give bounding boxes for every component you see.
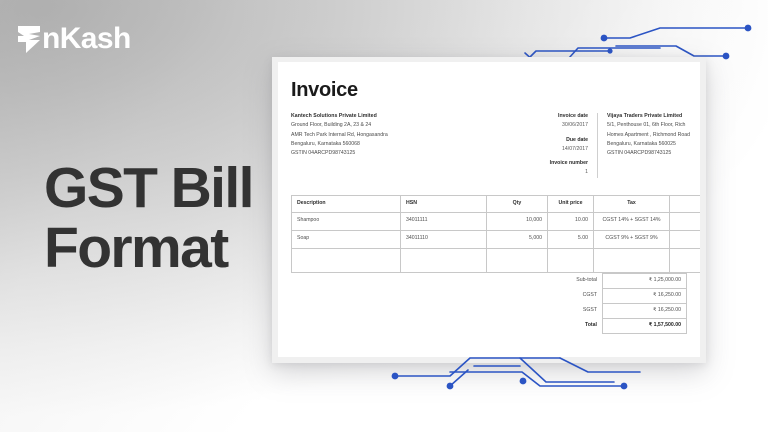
buyer-block: Vijaya Traders Private Limited 5/1, Pent… <box>598 112 690 158</box>
totals-row-cgst: CGST ₹ 16,250.00 <box>532 288 687 303</box>
invoice-title: Invoice <box>291 80 687 100</box>
grand-total-value: ₹ 1,57,500.00 <box>603 318 687 333</box>
seller-address-line-2: AMR Tech Park Internal Rd, Hongasandra <box>291 131 496 140</box>
table-empty-row <box>292 248 701 272</box>
seller-address-line-1: Ground Floor, Building 2A, 23 & 24 <box>291 121 496 130</box>
column-header-unit-price: Unit price <box>548 195 594 212</box>
table-row: Soap 34011110 5,000 5.00 CGST 9% + SGST … <box>292 230 701 248</box>
cell-description: Soap <box>292 230 401 248</box>
buyer-address-line-3: Bengaluru, Karnataka 560025 <box>607 140 690 149</box>
cell-hsn: 34011111 <box>401 212 487 230</box>
column-header-tax: Tax <box>594 195 670 212</box>
totals-row-sgst: SGST ₹ 16,250.00 <box>532 303 687 318</box>
invoice-date-label: Invoice date <box>496 112 588 121</box>
column-header-amount: Amount <box>670 195 701 212</box>
totals-section: Sub-total ₹ 1,25,000.00 CGST ₹ 16,250.00… <box>291 273 687 334</box>
cell-description: Shampoo <box>292 212 401 230</box>
buyer-gstin: GSTIN 04ARCPD98743125 <box>607 149 690 158</box>
page-title: GST Bill Format <box>44 158 253 279</box>
buyer-address-line-1: 5/1, Penthouse 01, 6th Floor, Rich <box>607 121 690 130</box>
poster-canvas: Invoice Kantech Solutions Private Limite… <box>0 0 768 432</box>
totals-table: Sub-total ₹ 1,25,000.00 CGST ₹ 16,250.00… <box>532 273 687 334</box>
grand-total-label: Total <box>532 318 603 333</box>
sgst-label: SGST <box>532 303 603 318</box>
due-date-value: 14/07/2017 <box>496 145 588 154</box>
enkash-logo-text: nKash <box>42 24 131 54</box>
cell-tax: CGST 9% + SGST 9% <box>594 230 670 248</box>
cell-tax: CGST 14% + SGST 14% <box>594 212 670 230</box>
line-items-table: Description HSN Qty Unit price Tax Amoun… <box>291 195 700 273</box>
cell-unit-price: 5.00 <box>548 230 594 248</box>
due-date-label: Due date <box>496 136 588 145</box>
cgst-label: CGST <box>532 288 603 303</box>
cell-qty: 10,000 <box>487 212 548 230</box>
sgst-value: ₹ 16,250.00 <box>603 303 687 318</box>
cell-amount: 1,00,000.00 <box>670 212 701 230</box>
seller-gstin: GSTIN 04ARCPD98743125 <box>291 149 496 158</box>
invoice-number-label: Invoice number <box>496 159 588 168</box>
invoice-number-value: 1 <box>496 168 588 177</box>
seller-address-line-3: Bengaluru, Karnataka 560068 <box>291 140 496 149</box>
invoice-meta-block: Invoice date 30/06/2017 Due date 14/07/2… <box>496 112 597 178</box>
totals-row-total: Total ₹ 1,57,500.00 <box>532 318 687 333</box>
enkash-logo[interactable]: nKash <box>16 22 131 56</box>
column-header-qty: Qty <box>487 195 548 212</box>
invoice-date-value: 30/06/2017 <box>496 121 588 130</box>
page-title-line-1: GST Bill <box>44 158 253 218</box>
total-in-words-label: Total in words <box>291 356 687 358</box>
table-header-row: Description HSN Qty Unit price Tax Amoun… <box>292 195 701 212</box>
cell-qty: 5,000 <box>487 230 548 248</box>
table-row: Shampoo 34011111 10,000 10.00 CGST 14% +… <box>292 212 701 230</box>
buyer-address-line-2: Homes Apartment , Richmond Road <box>607 131 690 140</box>
page-title-line-2: Format <box>44 218 253 278</box>
cgst-value: ₹ 16,250.00 <box>603 288 687 303</box>
invoice-parties-row: Kantech Solutions Private Limited Ground… <box>291 112 687 178</box>
seller-name: Kantech Solutions Private Limited <box>291 112 496 121</box>
seller-block: Kantech Solutions Private Limited Ground… <box>291 112 496 158</box>
cell-unit-price: 10.00 <box>548 212 594 230</box>
cell-hsn: 34011110 <box>401 230 487 248</box>
cell-amount: 25,000.00 <box>670 230 701 248</box>
buyer-name: Vijaya Traders Private Limited <box>607 112 690 121</box>
total-in-words-block: Total in words Rupees One Lakh Fifty Sev… <box>291 356 687 358</box>
subtotal-label: Sub-total <box>532 273 603 288</box>
column-header-description: Description <box>292 195 401 212</box>
invoice-card: Invoice Kantech Solutions Private Limite… <box>278 62 700 357</box>
subtotal-value: ₹ 1,25,000.00 <box>603 273 687 288</box>
rupee-monogram-icon <box>16 24 42 54</box>
totals-row-subtotal: Sub-total ₹ 1,25,000.00 <box>532 273 687 288</box>
column-header-hsn: HSN <box>401 195 487 212</box>
